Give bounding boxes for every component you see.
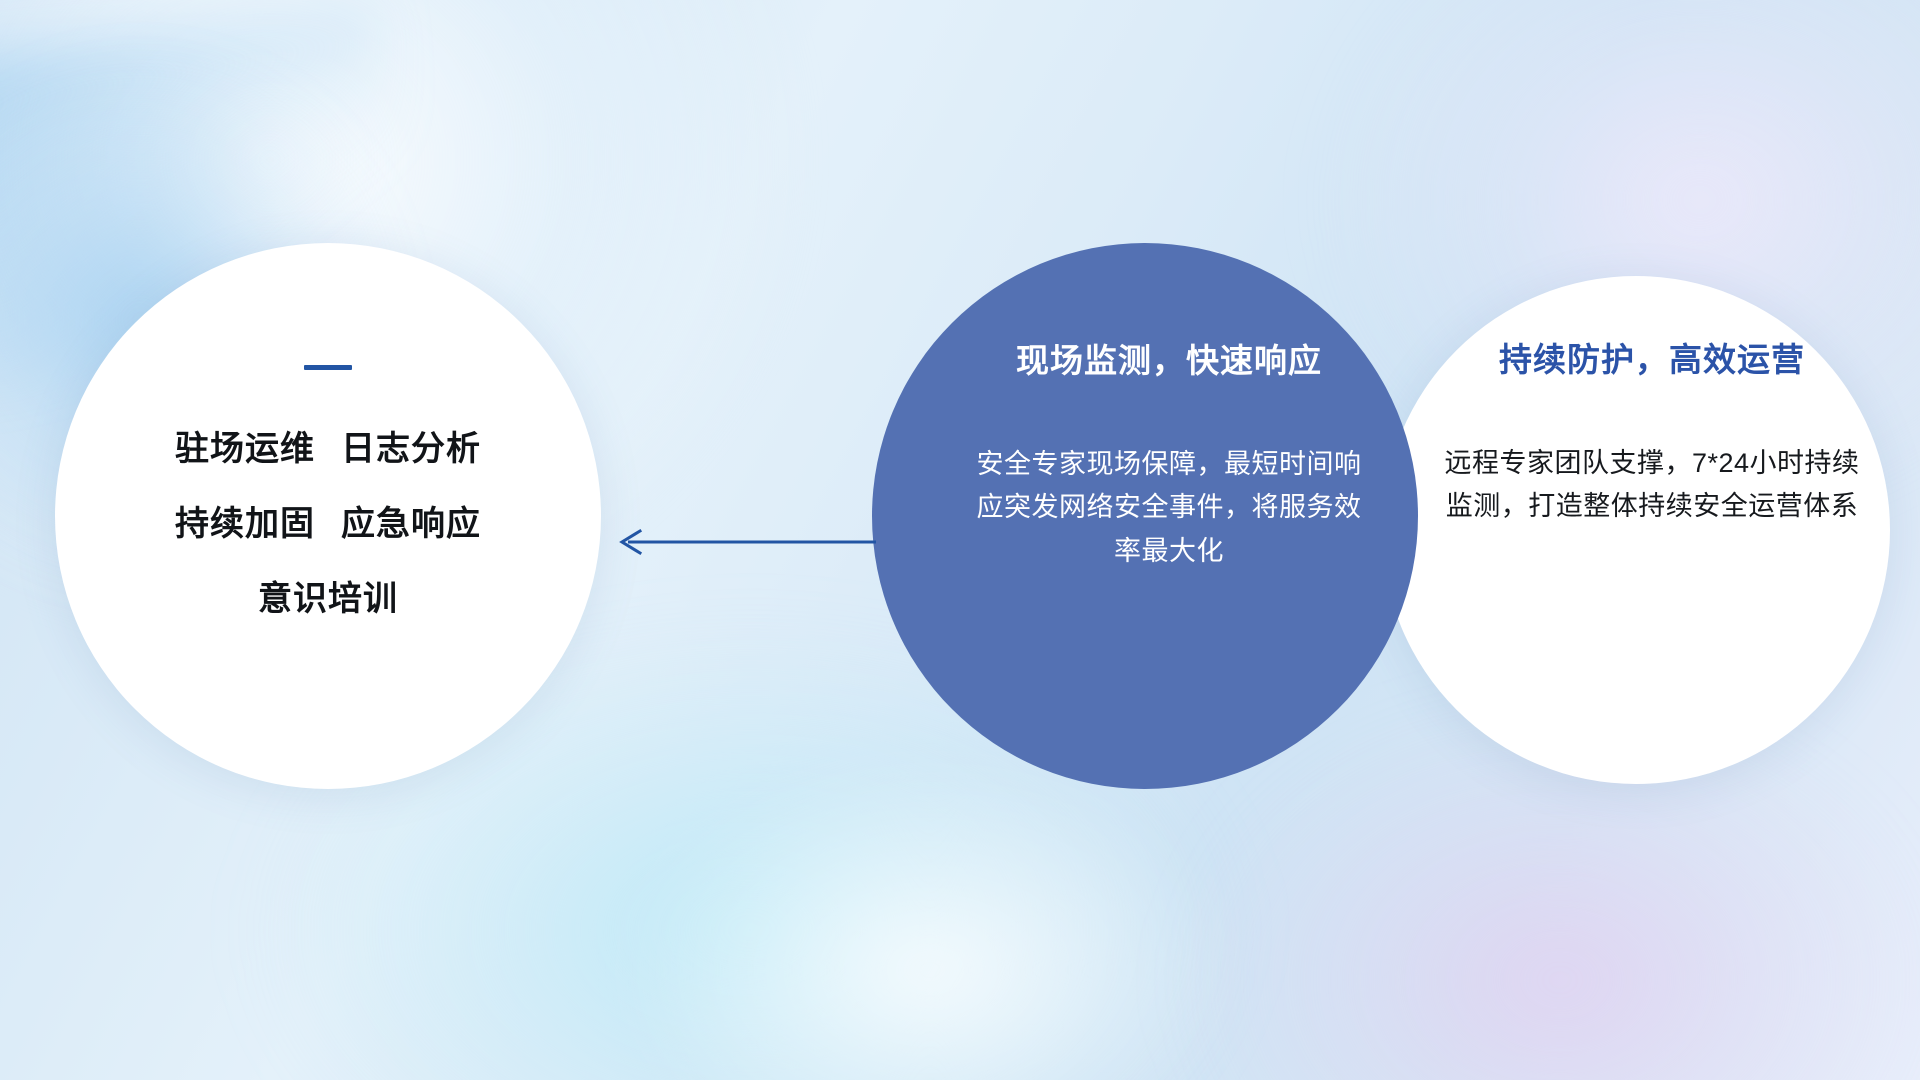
capability-row-3: 意识培训 (103, 582, 553, 616)
capability-row-2: 持续加固应急响应 (103, 507, 553, 541)
capability-label: 应急响应 (341, 505, 481, 543)
onsite-monitoring-circle: 现场监测，快速响应 安全专家现场保障，最短时间响应突发网络安全事件，将服务效率最… (872, 243, 1418, 789)
continuous-protection-content: 持续防护，高效运营 远程专家团队支撑，7*24小时持续监测，打造整体持续安全运营… (1382, 340, 1890, 529)
capability-label: 意识培训 (258, 580, 398, 618)
continuous-protection-title: 持续防护，高效运营 (1440, 340, 1864, 380)
slide-canvas: 驻场运维日志分析 持续加固应急响应 意识培训 持续防护，高效运营 远程专家团队支… (0, 0, 1920, 1080)
service-capabilities-content: 驻场运维日志分析 持续加固应急响应 意识培训 (55, 365, 601, 616)
onsite-monitoring-body: 安全专家现场保障，最短时间响应突发网络安全事件，将服务效率最大化 (964, 443, 1374, 574)
onsite-monitoring-content: 现场监测，快速响应 安全专家现场保障，最短时间响应突发网络安全事件，将服务效率最… (872, 341, 1418, 574)
capability-label: 驻场运维 (175, 430, 315, 468)
capability-label: 日志分析 (341, 430, 481, 468)
flow-arrow-left (614, 527, 876, 557)
service-capabilities-circle: 驻场运维日志分析 持续加固应急响应 意识培训 (55, 243, 601, 789)
capability-row-1: 驻场运维日志分析 (103, 432, 553, 466)
background-glow-white-bottom (620, 760, 1240, 1080)
continuous-protection-circle: 持续防护，高效运营 远程专家团队支撑，7*24小时持续监测，打造整体持续安全运营… (1382, 276, 1890, 784)
capability-label: 持续加固 (175, 505, 315, 543)
onsite-monitoring-title: 现场监测，快速响应 (964, 341, 1374, 381)
accent-rule-divider (304, 365, 352, 370)
continuous-protection-body: 远程专家团队支撑，7*24小时持续监测，打造整体持续安全运营体系 (1440, 442, 1864, 529)
